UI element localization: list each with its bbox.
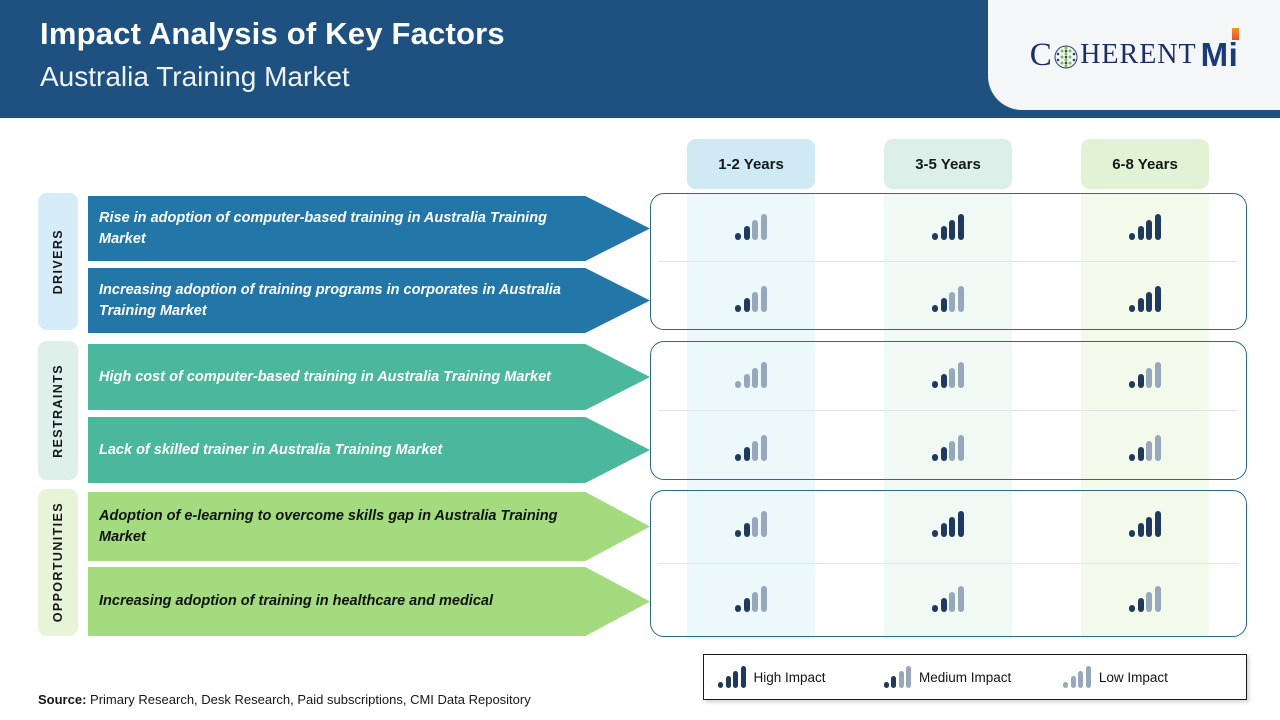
- impact-bar: [1138, 298, 1144, 312]
- page-subtitle: Australia Training Market: [40, 56, 505, 98]
- impact-cell: [884, 565, 1012, 633]
- impact-bar: [949, 292, 955, 312]
- row-separator: [658, 261, 1238, 262]
- row-separator: [658, 563, 1238, 564]
- impact-cell: [884, 265, 1012, 333]
- impact-bar: [958, 586, 964, 612]
- impact-bar: [761, 435, 767, 461]
- impact-bar: [744, 226, 750, 240]
- factor-chip: Adoption of e-learning to overcome skill…: [88, 492, 650, 561]
- impact-bar: [949, 517, 955, 537]
- section-label-opportunities-text: OPPORTUNITIES: [51, 502, 65, 622]
- impact-legend: High Impact Medium Impact Low Impact: [703, 654, 1247, 700]
- impact-bar: [1129, 530, 1135, 537]
- impact-bar: [941, 447, 947, 461]
- impact-bar: [1146, 441, 1152, 461]
- impact-bars-medium-icon: [735, 435, 767, 461]
- brand-logo-plate: C HERENT: [988, 0, 1280, 110]
- factor-text: Increasing adoption of training in healt…: [99, 591, 493, 612]
- impact-bar: [1146, 292, 1152, 312]
- impact-bar: [1155, 511, 1161, 537]
- impact-cell: [1081, 341, 1209, 409]
- factor-chip: Rise in adoption of computer-based train…: [88, 196, 650, 261]
- impact-bar: [949, 368, 955, 388]
- impact-bars-medium-icon: [735, 511, 767, 537]
- impact-bars-high-icon: [932, 511, 964, 537]
- impact-bar: [1155, 435, 1161, 461]
- impact-bar: [744, 447, 750, 461]
- impact-bar: [1138, 598, 1144, 612]
- impact-bar: [735, 605, 741, 612]
- impact-bar: [752, 292, 758, 312]
- impact-bar: [752, 441, 758, 461]
- impact-bars-medium-icon: [932, 286, 964, 312]
- impact-bar: [958, 362, 964, 388]
- source-note: Source: Primary Research, Desk Research,…: [38, 692, 531, 707]
- impact-bar: [744, 598, 750, 612]
- legend-item-medium: Medium Impact: [884, 666, 1012, 688]
- section-label-drivers: DRIVERS: [38, 193, 78, 330]
- impact-bar: [1138, 523, 1144, 537]
- impact-bar: [752, 592, 758, 612]
- impact-bar: [752, 368, 758, 388]
- logo-accent-bar: [1232, 28, 1239, 40]
- impact-bars-high-icon: [718, 666, 746, 688]
- impact-bar: [949, 592, 955, 612]
- impact-bar: [744, 523, 750, 537]
- impact-bar: [932, 605, 938, 612]
- impact-bar: [941, 298, 947, 312]
- impact-bar: [884, 682, 889, 688]
- impact-bar: [1078, 671, 1083, 688]
- impact-bar: [958, 511, 964, 537]
- impact-bar: [726, 676, 731, 688]
- logo-letter-c: C: [1030, 37, 1053, 74]
- impact-cell: [687, 265, 815, 333]
- impact-bar: [741, 666, 746, 688]
- legend-item-low: Low Impact: [1063, 666, 1168, 688]
- row-separator: [658, 410, 1238, 411]
- impact-bars-high-icon: [932, 214, 964, 240]
- impact-bar: [1129, 233, 1135, 240]
- impact-bar: [1146, 592, 1152, 612]
- impact-cell: [687, 341, 815, 409]
- impact-bar: [1146, 220, 1152, 240]
- impact-bar: [1155, 286, 1161, 312]
- impact-bar: [1146, 517, 1152, 537]
- column-header-3-5-years: 3-5 Years: [884, 139, 1012, 189]
- column-header-6-8-years: 6-8 Years: [1081, 139, 1209, 189]
- impact-bars-medium-icon: [932, 586, 964, 612]
- impact-bars-medium-icon: [884, 666, 912, 688]
- impact-bar: [1129, 605, 1135, 612]
- impact-bar: [1086, 666, 1091, 688]
- impact-bar: [735, 233, 741, 240]
- impact-bar: [932, 233, 938, 240]
- source-text: Primary Research, Desk Research, Paid su…: [86, 692, 530, 707]
- factor-text: Increasing adoption of training programs…: [99, 280, 580, 322]
- impact-bar: [949, 220, 955, 240]
- factor-chip: Increasing adoption of training programs…: [88, 268, 650, 333]
- impact-bar: [958, 435, 964, 461]
- logo-word-mi: Mi: [1201, 36, 1239, 74]
- section-label-restraints: RESTRAINTS: [38, 341, 78, 480]
- coherentmi-logo: C HERENT: [1030, 36, 1239, 74]
- factor-chip: Lack of skilled trainer in Australia Tra…: [88, 417, 650, 483]
- impact-bar: [906, 666, 911, 688]
- impact-cell: [1081, 490, 1209, 558]
- impact-bar: [1129, 305, 1135, 312]
- impact-cell: [884, 490, 1012, 558]
- impact-bars-low-icon: [1063, 666, 1091, 688]
- logo-word-herent: HERENT: [1080, 39, 1196, 71]
- impact-bar: [1071, 676, 1076, 688]
- impact-bars-high-icon: [1129, 511, 1161, 537]
- impact-analysis-infographic: C HERENT: [0, 0, 1280, 720]
- impact-bars-high-icon: [1129, 214, 1161, 240]
- factor-text: Adoption of e-learning to overcome skill…: [99, 506, 580, 548]
- logo-mi-text: Mi: [1201, 36, 1239, 73]
- legend-item-high: High Impact: [718, 666, 826, 688]
- impact-bar: [891, 676, 896, 688]
- impact-cell: [1081, 414, 1209, 482]
- impact-matrix: [650, 193, 1247, 639]
- impact-bars-medium-icon: [1129, 362, 1161, 388]
- factor-text: Rise in adoption of computer-based train…: [99, 208, 580, 250]
- impact-cell: [687, 565, 815, 633]
- impact-cell: [687, 414, 815, 482]
- impact-bar: [735, 530, 741, 537]
- impact-bar: [958, 286, 964, 312]
- column-header-1-2-years: 1-2 Years: [687, 139, 815, 189]
- impact-bar: [752, 220, 758, 240]
- impact-bar: [752, 517, 758, 537]
- factor-chip: High cost of computer-based training in …: [88, 344, 650, 410]
- impact-bars-high-icon: [1129, 286, 1161, 312]
- legend-label-medium: Medium Impact: [919, 670, 1011, 685]
- factor-text: High cost of computer-based training in …: [99, 367, 551, 388]
- impact-bar: [735, 305, 741, 312]
- impact-cell: [884, 341, 1012, 409]
- impact-bars-medium-icon: [735, 586, 767, 612]
- impact-bar: [941, 374, 947, 388]
- impact-bars-medium-icon: [735, 214, 767, 240]
- impact-bar: [941, 523, 947, 537]
- impact-bar: [761, 286, 767, 312]
- impact-cell: [687, 193, 815, 261]
- impact-bars-medium-icon: [735, 286, 767, 312]
- impact-bar: [941, 226, 947, 240]
- impact-bar: [1155, 214, 1161, 240]
- impact-bars-medium-icon: [1129, 586, 1161, 612]
- impact-bars-medium-icon: [932, 362, 964, 388]
- impact-bar: [761, 511, 767, 537]
- impact-bar: [941, 598, 947, 612]
- impact-bar: [1155, 586, 1161, 612]
- impact-bar: [932, 305, 938, 312]
- impact-bar: [761, 362, 767, 388]
- source-label: Source:: [38, 692, 86, 707]
- impact-bar: [1138, 374, 1144, 388]
- factor-text: Lack of skilled trainer in Australia Tra…: [99, 440, 442, 461]
- section-label-opportunities: OPPORTUNITIES: [38, 489, 78, 636]
- impact-bar: [1146, 368, 1152, 388]
- impact-bar: [1063, 682, 1068, 688]
- impact-bar: [958, 214, 964, 240]
- impact-bar: [899, 671, 904, 688]
- impact-bar: [1129, 454, 1135, 461]
- impact-cell: [884, 414, 1012, 482]
- impact-bar: [1138, 226, 1144, 240]
- impact-bar: [932, 530, 938, 537]
- impact-bar: [932, 454, 938, 461]
- section-label-drivers-text: DRIVERS: [51, 229, 65, 294]
- legend-label-low: Low Impact: [1099, 670, 1168, 685]
- impact-bar: [733, 671, 738, 688]
- globe-icon: [1053, 44, 1079, 70]
- impact-bar: [1138, 447, 1144, 461]
- impact-bar: [949, 441, 955, 461]
- impact-cell: [1081, 265, 1209, 333]
- page-title: Impact Analysis of Key Factors: [40, 12, 505, 56]
- impact-bar: [761, 214, 767, 240]
- header-text-block: Impact Analysis of Key Factors Australia…: [40, 12, 505, 98]
- factor-chip: Increasing adoption of training in healt…: [88, 567, 650, 636]
- impact-cell: [687, 490, 815, 558]
- impact-cell: [1081, 193, 1209, 261]
- impact-cell: [1081, 565, 1209, 633]
- impact-bar: [744, 374, 750, 388]
- impact-bars-medium-icon: [932, 435, 964, 461]
- impact-bar: [1129, 381, 1135, 388]
- impact-bar: [744, 298, 750, 312]
- impact-bar: [1155, 362, 1161, 388]
- impact-bar: [761, 586, 767, 612]
- impact-bar: [718, 682, 723, 688]
- impact-bar: [735, 381, 741, 388]
- impact-cell: [884, 193, 1012, 261]
- impact-bar: [735, 454, 741, 461]
- impact-bar: [932, 381, 938, 388]
- impact-bars-low-icon: [735, 362, 767, 388]
- section-label-restraints-text: RESTRAINTS: [51, 364, 65, 458]
- legend-label-high: High Impact: [754, 670, 826, 685]
- impact-bars-medium-icon: [1129, 435, 1161, 461]
